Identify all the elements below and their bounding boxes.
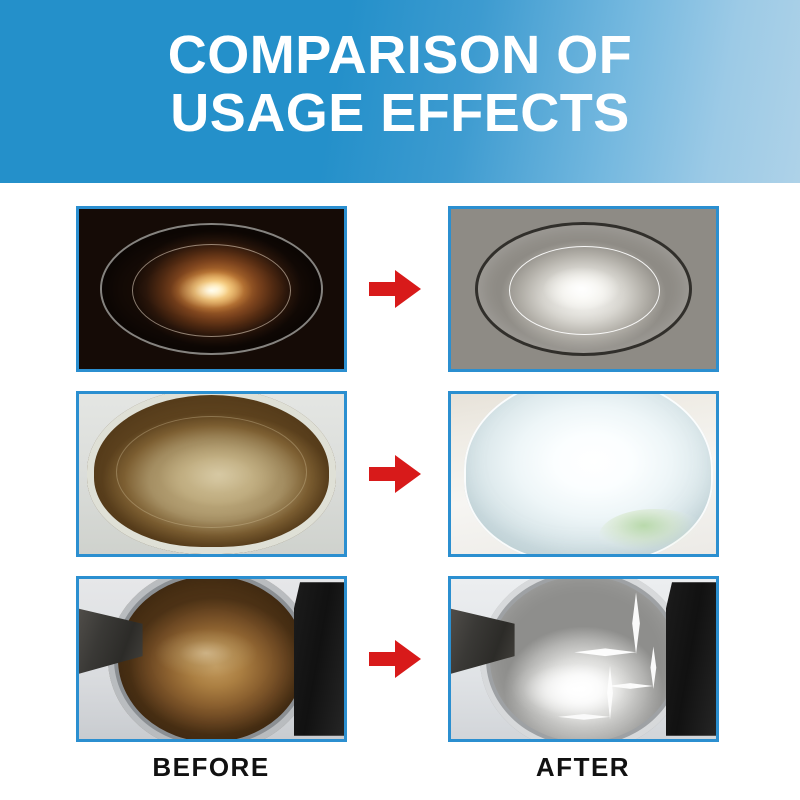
- photo-clean-rice-cooker: [451, 209, 716, 369]
- arrow-right-icon: [369, 637, 421, 681]
- arrow-right-icon: [369, 267, 421, 311]
- before-image-rice-cooker: [76, 206, 347, 372]
- arrow-right-icon: [369, 452, 421, 496]
- comparison-row-electric-kettle: [0, 576, 800, 748]
- photo-dirty-rice-cooker: [79, 209, 344, 369]
- photo-dirty-ceramic-bowl: [79, 394, 344, 554]
- after-image-electric-kettle: [448, 576, 719, 742]
- comparison-grid: [0, 183, 800, 800]
- photo-clean-ceramic-bowl: [451, 394, 716, 554]
- kettle-spout: [79, 605, 143, 679]
- after-label: AFTER: [468, 752, 698, 783]
- photo-clean-electric-kettle: [451, 579, 716, 739]
- after-image-ceramic-bowl: [448, 391, 719, 557]
- comparison-row-rice-cooker: [0, 206, 800, 378]
- before-image-electric-kettle: [76, 576, 347, 742]
- before-image-ceramic-bowl: [76, 391, 347, 557]
- photo-dirty-electric-kettle: [79, 579, 344, 739]
- header-banner: COMPARISON OF USAGE EFFECTS: [0, 0, 800, 183]
- after-image-rice-cooker: [448, 206, 719, 372]
- page-title: COMPARISON OF USAGE EFFECTS: [0, 26, 800, 142]
- sparkle-icon: [451, 579, 716, 739]
- before-label: BEFORE: [96, 752, 326, 783]
- kettle-handle: [294, 582, 344, 736]
- comparison-row-ceramic-bowl: [0, 391, 800, 563]
